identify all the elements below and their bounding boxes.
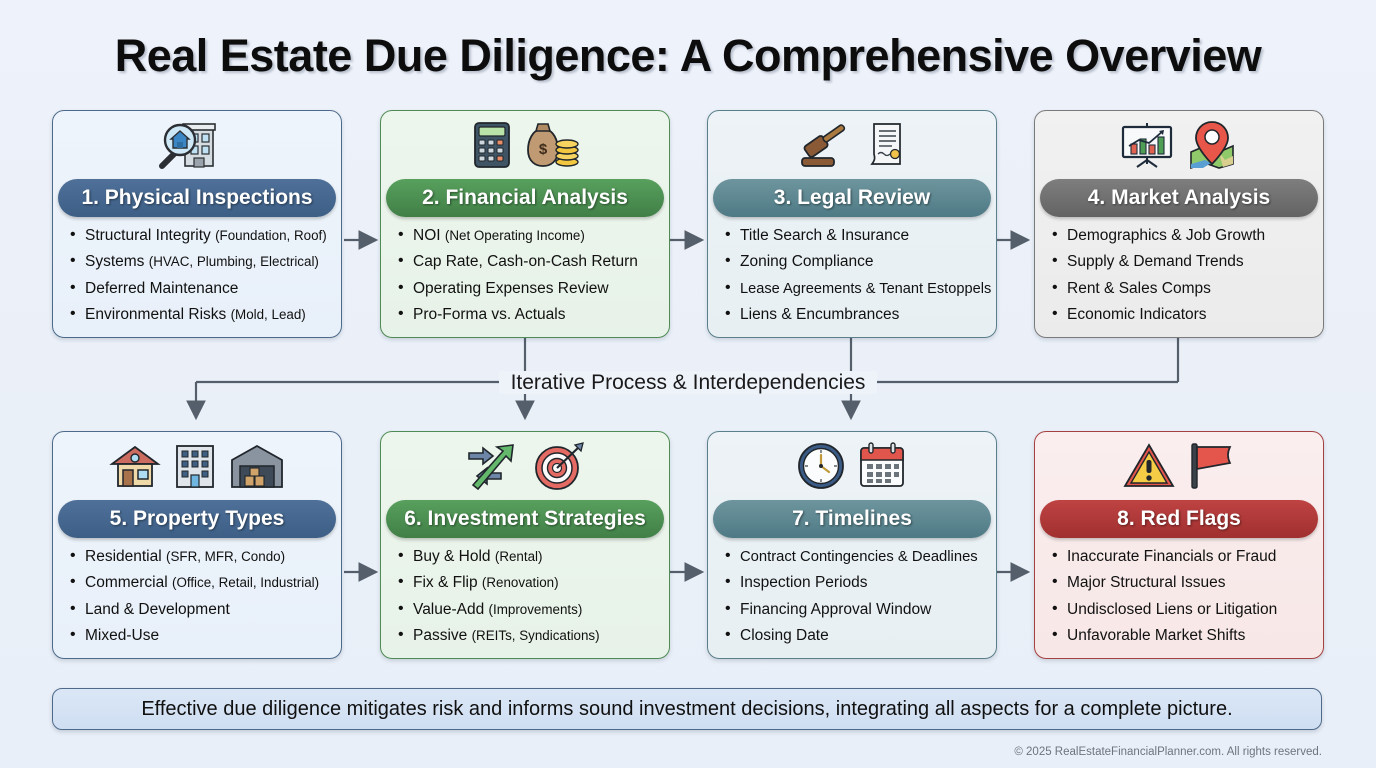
card-2-icons: $ [381,111,669,179]
card-2-header: 2. Financial Analysis [386,179,664,217]
iterative-process-label: Iterative Process & Interdependencies [0,371,1376,395]
list-item: Contract Contingencies & Deadlines [718,544,990,570]
calendar-icon [856,441,908,491]
warehouse-icon [229,442,285,490]
apartment-icon [171,442,219,490]
list-item: Title Search & Insurance [718,223,990,249]
list-item: Passive (REITs, Syndications) [391,623,663,649]
list-item: Zoning Compliance [718,249,990,275]
copyright-notice: © 2025 RealEstateFinancialPlanner.com. A… [1014,746,1322,758]
card-1-header: 1. Physical Inspections [58,179,336,217]
summary-banner: Effective due diligence mitigates risk a… [52,688,1322,730]
card-timelines[interactable]: 7. Timelines Contract Contingencies & De… [707,431,997,659]
legal-document-icon [866,120,908,170]
list-item: Inspection Periods [718,570,990,596]
list-item: Commercial (Office, Retail, Industrial) [63,570,335,596]
card-5-header: 5. Property Types [58,500,336,538]
card-7-header: 7. Timelines [713,500,991,538]
list-item: Value-Add (Improvements) [391,597,663,623]
red-flag-icon [1186,441,1236,491]
list-item: NOI (Net Operating Income) [391,223,663,249]
card-red-flags[interactable]: 8. Red Flags Inaccurate Financials or Fr… [1034,431,1324,659]
list-item: Buy & Hold (Rental) [391,544,663,570]
card-3-icons [708,111,996,179]
card-5-icons [53,432,341,500]
list-item: Inaccurate Financials or Fraud [1045,544,1317,570]
card-8-header: 8. Red Flags [1040,500,1318,538]
card-7-icons [708,432,996,500]
card-investment-strategies[interactable]: 6. Investment Strategies Buy & Hold (Ren… [380,431,670,659]
card-4-bullets: Demographics & Job Growth Supply & Deman… [1045,223,1317,328]
card-4-icons [1035,111,1323,179]
clock-icon [796,441,846,491]
card-6-icons [381,432,669,500]
list-item: Unfavorable Market Shifts [1045,623,1317,649]
page-title: Real Estate Due Diligence: A Comprehensi… [0,30,1376,82]
card-property-types[interactable]: 5. Property Types Residential (SFR, MFR,… [52,431,342,659]
list-item: Residential (SFR, MFR, Condo) [63,544,335,570]
list-item: Economic Indicators [1045,302,1317,328]
list-item: Structural Integrity (Foundation, Roof) [63,223,335,249]
card-2-bullets: NOI (Net Operating Income) Cap Rate, Cas… [391,223,663,328]
house-icon [109,442,161,490]
list-item: Land & Development [63,597,335,623]
list-item: Supply & Demand Trends [1045,249,1317,275]
list-item: Fix & Flip (Renovation) [391,570,663,596]
list-item: Lease Agreements & Tenant Estoppels [718,276,990,302]
map-pin-icon [1185,120,1239,170]
money-bag-coins-icon: $ [523,120,579,170]
list-item: Cap Rate, Cash-on-Cash Return [391,249,663,275]
card-4-header: 4. Market Analysis [1040,179,1318,217]
card-6-bullets: Buy & Hold (Rental) Fix & Flip (Renovati… [391,544,663,649]
svg-text:$: $ [539,141,548,158]
list-item: Environmental Risks (Mold, Lead) [63,302,335,328]
card-1-bullets: Structural Integrity (Foundation, Roof) … [63,223,335,328]
warning-triangle-icon [1122,441,1176,491]
card-7-bullets: Contract Contingencies & Deadlines Inspe… [718,544,990,649]
card-8-bullets: Inaccurate Financials or Fraud Major Str… [1045,544,1317,649]
list-item: Demographics & Job Growth [1045,223,1317,249]
card-market-analysis[interactable]: 4. Market Analysis Demographics & Job Gr… [1034,110,1324,338]
list-item: Systems (HVAC, Plumbing, Electrical) [63,249,335,275]
card-3-header: 3. Legal Review [713,179,991,217]
list-item: Operating Expenses Review [391,276,663,302]
list-item: Pro-Forma vs. Actuals [391,302,663,328]
magnifier-house-icon [158,120,216,170]
card-6-header: 6. Investment Strategies [386,500,664,538]
chart-presentation-icon [1119,120,1175,170]
list-item: Undisclosed Liens or Litigation [1045,597,1317,623]
card-8-icons [1035,432,1323,500]
calculator-icon [471,120,513,170]
card-financial-analysis[interactable]: $ 2. Financial Analysis NOI (Net Operati… [380,110,670,338]
office-building-icon [226,140,236,150]
list-item: Liens & Encumbrances [718,302,990,328]
list-item: Deferred Maintenance [63,276,335,302]
gavel-icon [796,120,856,170]
list-item: Rent & Sales Comps [1045,276,1317,302]
list-item: Major Structural Issues [1045,570,1317,596]
iterative-process-text: Iterative Process & Interdependencies [499,371,878,394]
card-3-bullets: Title Search & Insurance Zoning Complian… [718,223,990,328]
list-item: Financing Approval Window [718,597,990,623]
card-legal-review[interactable]: 3. Legal Review Title Search & Insurance… [707,110,997,338]
card-5-bullets: Residential (SFR, MFR, Condo) Commercial… [63,544,335,649]
list-item: Closing Date [718,623,990,649]
exchange-arrows-icon [465,441,523,491]
card-physical-inspections[interactable]: 1. Physical Inspections Structural Integ… [52,110,342,338]
list-item: Mixed-Use [63,623,335,649]
target-dart-icon [533,441,585,491]
card-1-icons [53,111,341,179]
summary-banner-text: Effective due diligence mitigates risk a… [141,698,1232,721]
infographic-canvas: Real Estate Due Diligence: A Comprehensi… [0,0,1376,768]
